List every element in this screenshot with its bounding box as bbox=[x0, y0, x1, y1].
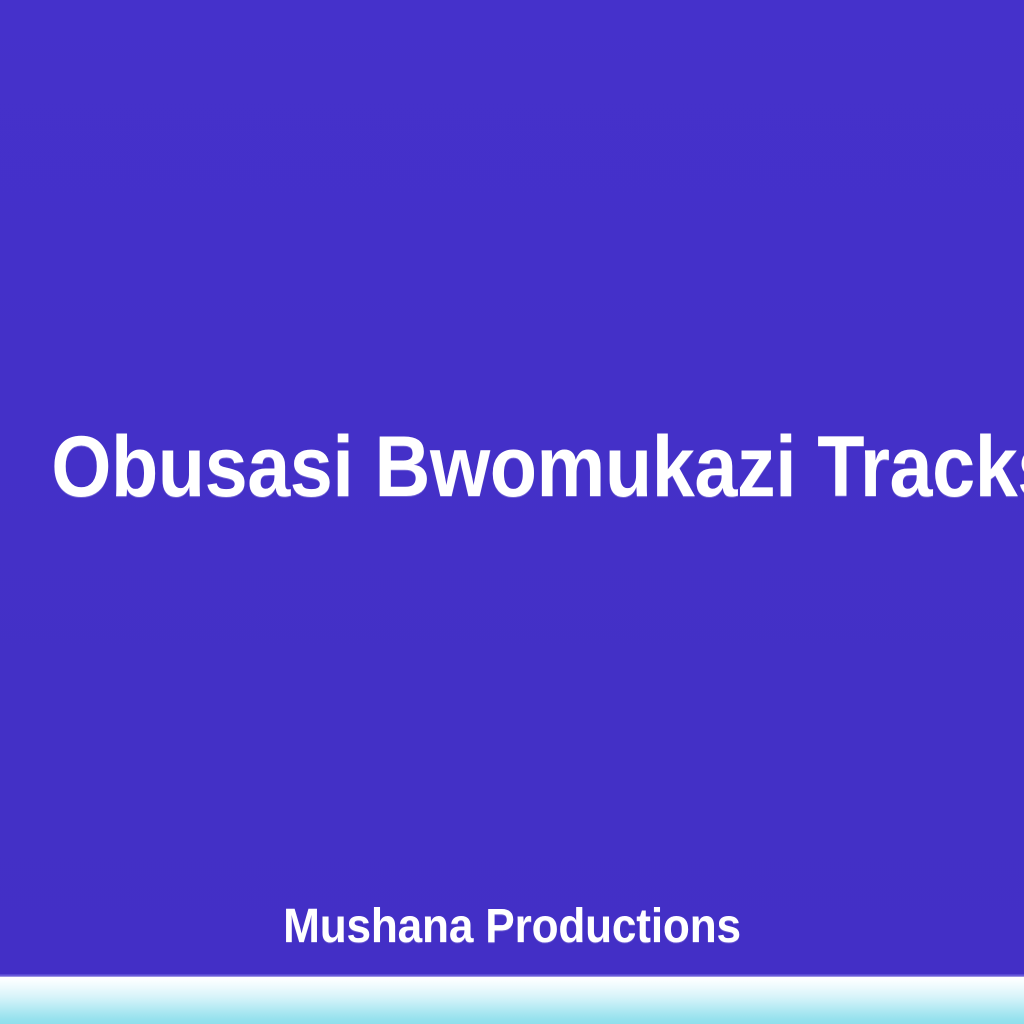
bottom-gradient-band bbox=[0, 977, 1024, 1024]
album-title: Obusasi Bwomukazi Tracks bbox=[51, 424, 973, 510]
artist-name: Mushana Productions bbox=[41, 903, 983, 951]
album-cover-artwork: Obusasi Bwomukazi Tracks Mushana Product… bbox=[0, 0, 1024, 1024]
